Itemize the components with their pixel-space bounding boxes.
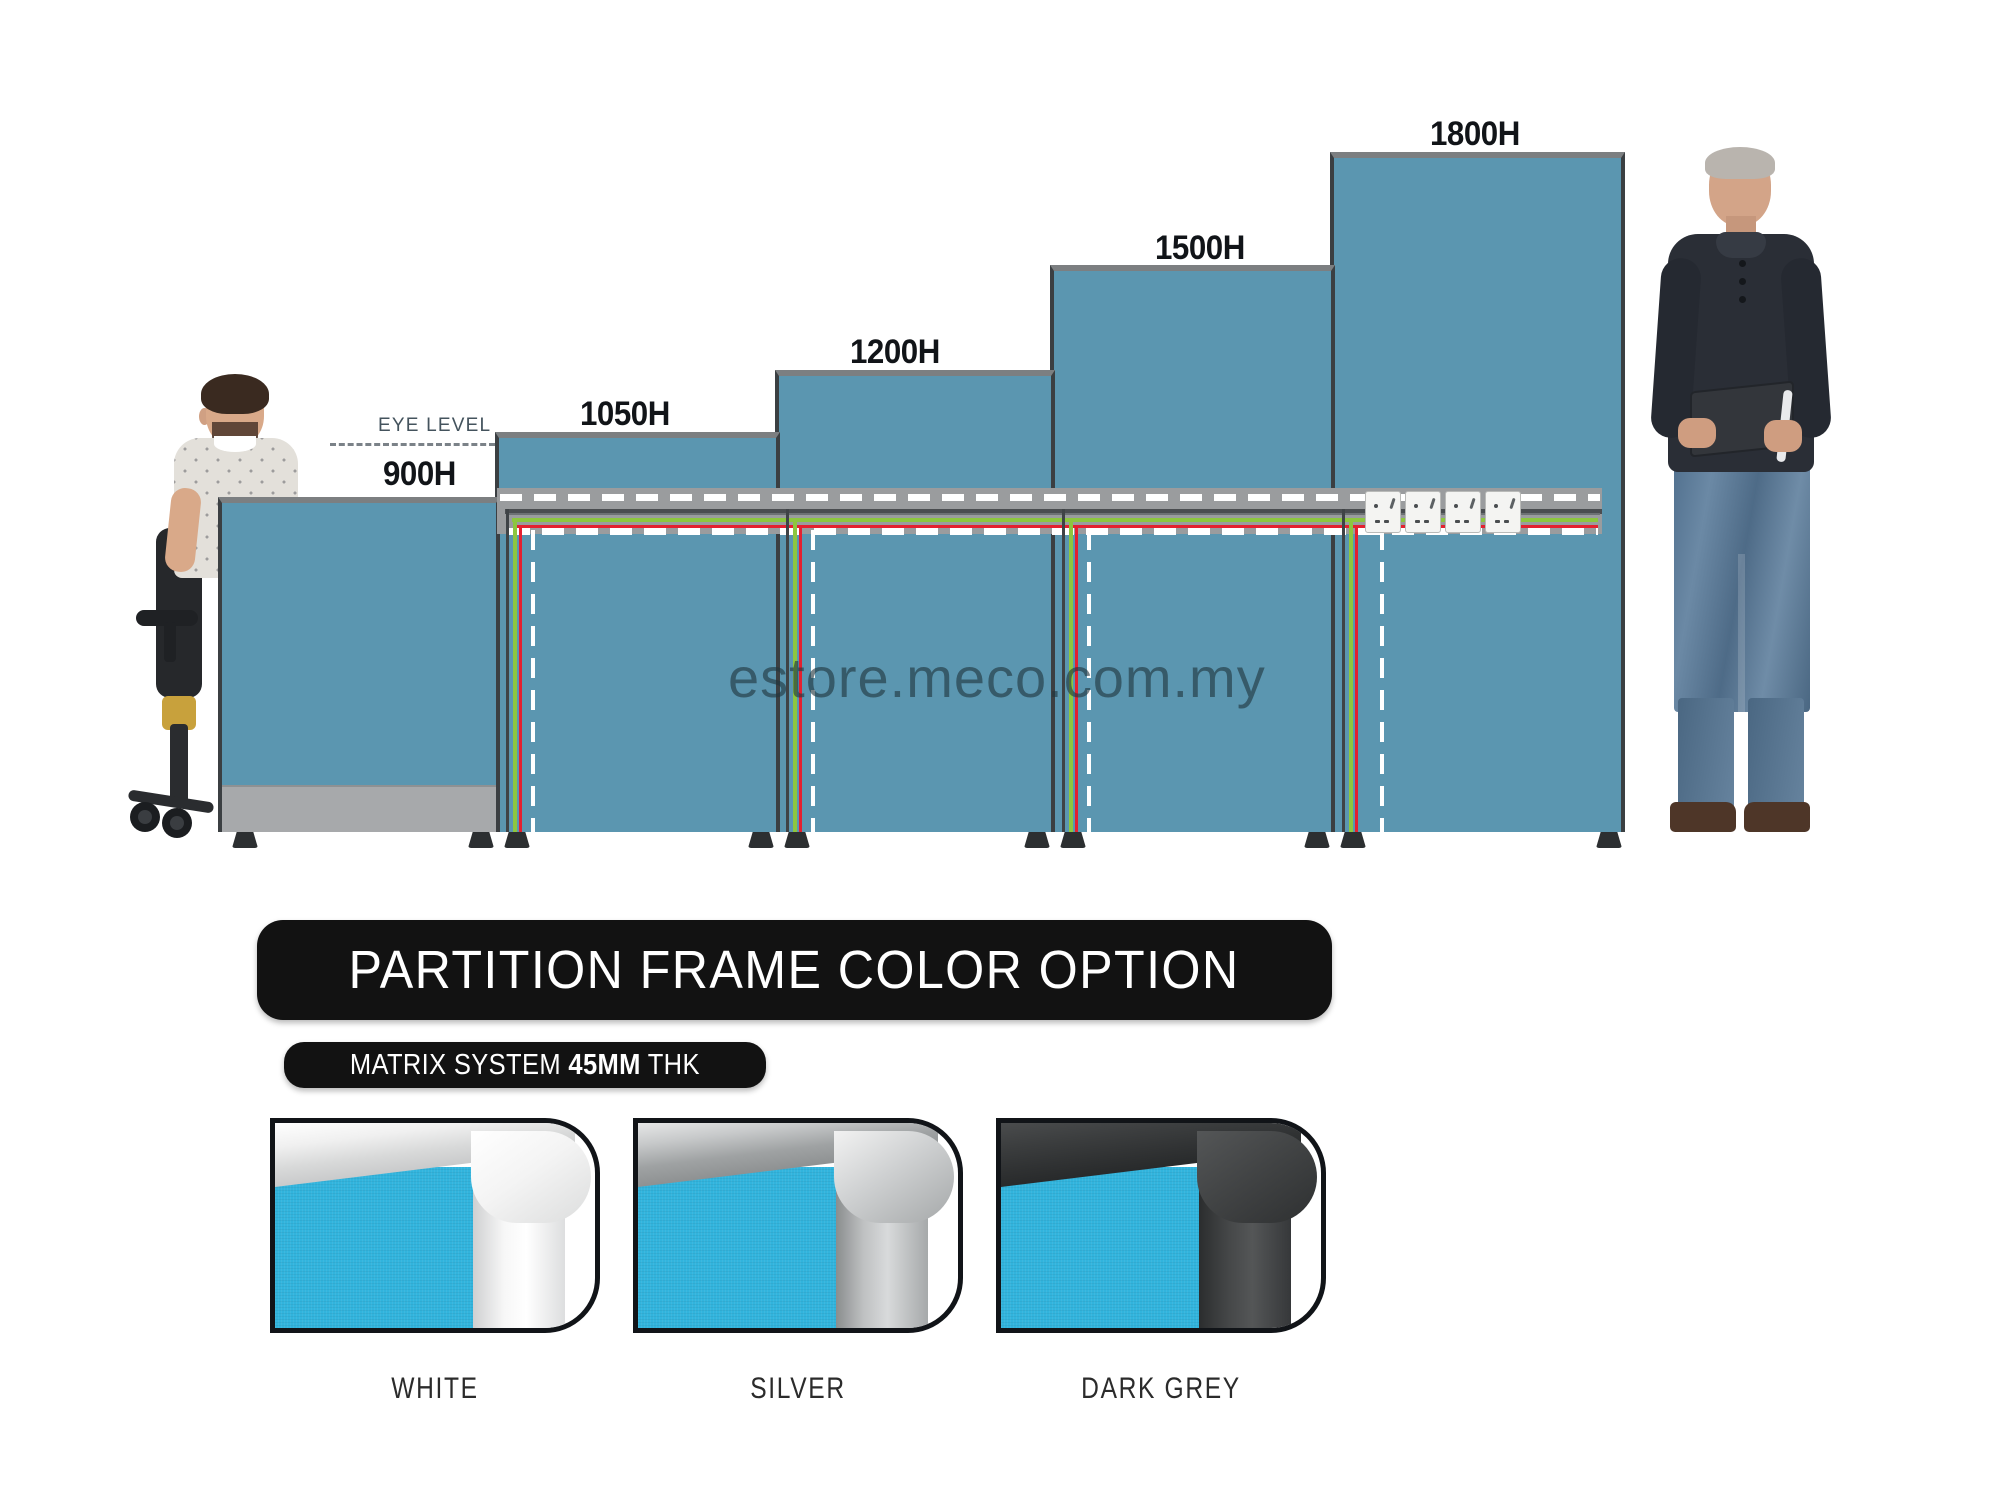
standing-leg-left bbox=[1678, 698, 1734, 810]
swatch-label-white: WHITE bbox=[300, 1372, 571, 1406]
socket-switch[interactable] bbox=[1429, 498, 1435, 509]
swatch-label-silver: SILVER bbox=[663, 1372, 934, 1406]
swatch-corner-cap-silver bbox=[834, 1131, 954, 1223]
site-watermark: estore.meco.com.my bbox=[728, 645, 1266, 710]
panel-label-1500h: 1500H bbox=[1155, 229, 1245, 268]
panel-foot bbox=[1596, 832, 1622, 848]
power-socket[interactable] bbox=[1445, 491, 1481, 533]
cable-drop-red bbox=[1355, 525, 1358, 832]
socket-neutral-pin bbox=[1424, 520, 1429, 523]
swatch-fabric-dark-grey bbox=[1001, 1167, 1206, 1333]
standing-leg-right bbox=[1748, 698, 1804, 810]
socket-earth-pin bbox=[1414, 504, 1418, 508]
panel-foot bbox=[784, 832, 810, 848]
socket-live-pin bbox=[1495, 520, 1500, 523]
spec-suffix: THK bbox=[641, 1049, 700, 1081]
frame-color-swatch-silver[interactable] bbox=[633, 1118, 963, 1333]
cable-drop-green bbox=[1349, 518, 1353, 832]
cable-drop-dashed bbox=[1380, 530, 1384, 832]
chair-caster bbox=[162, 808, 192, 838]
cable-drop-red bbox=[519, 525, 522, 832]
panel-foot bbox=[1304, 832, 1330, 848]
socket-neutral-pin bbox=[1464, 520, 1469, 523]
panel-900h-base-band bbox=[222, 785, 496, 832]
standing-shoe-right bbox=[1744, 802, 1810, 832]
system-spec-text: MATRIX SYSTEM 45MM THK bbox=[350, 1049, 700, 1082]
partition-panel-1200h bbox=[775, 370, 1055, 832]
section-title-banner: PARTITION FRAME COLOR OPTION bbox=[257, 920, 1332, 1020]
socket-earth-pin bbox=[1374, 504, 1378, 508]
cable-drop-dark bbox=[1342, 509, 1345, 832]
socket-neutral-pin bbox=[1384, 520, 1389, 523]
panel-label-900h: 900H bbox=[383, 455, 456, 494]
section-title-text: PARTITION FRAME COLOR OPTION bbox=[349, 939, 1240, 1001]
power-socket-strip[interactable] bbox=[1365, 491, 1521, 533]
partition-panel-900h bbox=[218, 497, 500, 832]
socket-earth-pin bbox=[1494, 504, 1498, 508]
cable-drop-dark bbox=[506, 509, 509, 832]
eye-level-line bbox=[330, 443, 495, 446]
swatch-label-dark-grey: DARK GREY bbox=[1026, 1372, 1297, 1406]
standing-hand-right bbox=[1764, 420, 1802, 452]
cable-drop-dashed bbox=[531, 530, 535, 832]
panel-foot bbox=[504, 832, 530, 848]
spec-thickness: 45MM bbox=[569, 1049, 641, 1081]
power-socket[interactable] bbox=[1485, 491, 1521, 533]
standing-button bbox=[1739, 260, 1746, 267]
standing-button bbox=[1739, 278, 1746, 285]
frame-color-swatch-white[interactable] bbox=[270, 1118, 600, 1333]
socket-earth-pin bbox=[1454, 504, 1458, 508]
socket-live-pin bbox=[1455, 520, 1460, 523]
standing-person bbox=[1660, 150, 1830, 840]
chair-caster bbox=[130, 802, 160, 832]
power-socket[interactable] bbox=[1365, 491, 1401, 533]
swatch-corner-cap-dark-grey bbox=[1197, 1131, 1317, 1223]
standing-collar bbox=[1716, 232, 1766, 258]
panel-foot bbox=[1024, 832, 1050, 848]
eye-level-label: EYE LEVEL bbox=[378, 415, 491, 437]
standing-jeans bbox=[1674, 462, 1810, 712]
panel-foot bbox=[1340, 832, 1366, 848]
partition-panel-1500h bbox=[1050, 265, 1335, 832]
socket-live-pin bbox=[1415, 520, 1420, 523]
panel-foot bbox=[1060, 832, 1086, 848]
frame-color-swatch-dark-grey[interactable] bbox=[996, 1118, 1326, 1333]
system-spec-badge: MATRIX SYSTEM 45MM THK bbox=[284, 1042, 766, 1088]
panel-foot bbox=[468, 832, 494, 848]
panel-label-1800h: 1800H bbox=[1430, 115, 1520, 154]
chair-arm-post bbox=[164, 622, 176, 662]
chair-gas-stem bbox=[170, 724, 188, 804]
seated-collar bbox=[214, 436, 256, 452]
standing-button bbox=[1739, 296, 1746, 303]
power-socket[interactable] bbox=[1405, 491, 1441, 533]
socket-switch[interactable] bbox=[1509, 498, 1515, 509]
diagram-stage: estore.meco.com.my EYE LEVEL 900H 1050H … bbox=[0, 0, 2000, 1487]
socket-switch[interactable] bbox=[1389, 498, 1395, 509]
spec-prefix: MATRIX SYSTEM bbox=[350, 1049, 569, 1081]
cable-drop-green bbox=[513, 518, 517, 832]
standing-hair bbox=[1705, 147, 1775, 179]
swatch-fabric-white bbox=[275, 1167, 480, 1333]
swatch-fabric-silver bbox=[638, 1167, 843, 1333]
standing-hand-left bbox=[1678, 418, 1716, 448]
socket-switch[interactable] bbox=[1469, 498, 1475, 509]
panel-foot bbox=[748, 832, 774, 848]
standing-shoe-left bbox=[1670, 802, 1736, 832]
socket-neutral-pin bbox=[1504, 520, 1509, 523]
panel-label-1200h: 1200H bbox=[850, 333, 940, 372]
panel-label-1050h: 1050H bbox=[580, 395, 670, 434]
swatch-corner-cap-white bbox=[471, 1131, 591, 1223]
socket-live-pin bbox=[1375, 520, 1380, 523]
seated-hair bbox=[201, 374, 269, 414]
